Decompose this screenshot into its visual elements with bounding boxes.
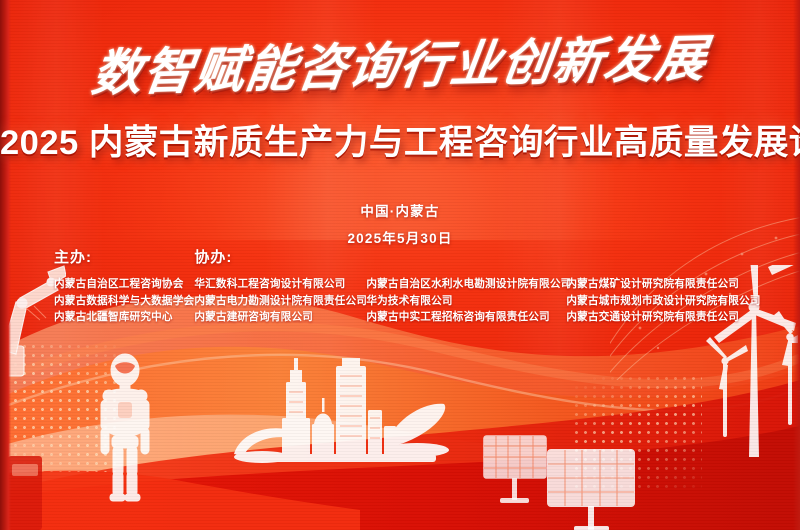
sponsor-item: 内蒙古电力勘测设计院有限责任公司 [194, 293, 366, 310]
event-location: 中国·内蒙古 [0, 200, 800, 220]
conference-backdrop-photo: 数智赋能咨询行业创新发展 2025 内蒙古新质生产力与工程咨询行业高质量发展论坛… [0, 0, 800, 530]
sponsor-column-cosponsor-2: 协办: 内蒙古自治区水利水电勘测设计院有限公司 华为技术有限公司 内蒙古中实工程… [366, 246, 566, 326]
sponsor-item: 内蒙古北疆智库研究中心 [54, 309, 194, 326]
sponsor-item: 内蒙古自治区工程咨询协会 [54, 276, 194, 293]
main-title: 2025 内蒙古新质生产力与工程咨询行业高质量发展论坛 [0, 114, 800, 164]
backdrop-text-content: 数智赋能咨询行业创新发展 2025 内蒙古新质生产力与工程咨询行业高质量发展论坛… [0, 0, 800, 530]
sponsor-column-cosponsor-1: 协办: 华汇数科工程咨询设计有限公司 内蒙古电力勘测设计院有限责任公司 内蒙古建… [194, 246, 366, 326]
sponsor-item: 华为技术有限公司 [366, 293, 566, 310]
sponsor-column-organizer: 主办: 内蒙古自治区工程咨询协会 内蒙古数据科学与大数据学会 内蒙古北疆智库研究… [54, 246, 194, 326]
event-date: 2025年5月30日 [0, 227, 800, 247]
sponsor-item: 内蒙古中实工程招标咨询有限责任公司 [366, 309, 566, 326]
sponsor-item: 华汇数科工程咨询设计有限公司 [194, 276, 366, 293]
sponsor-item: 内蒙古煤矿设计研究院有限责任公司 [566, 276, 760, 293]
calligraphy-title: 数智赋能咨询行业创新发展 [0, 16, 800, 108]
sponsor-heading-cosponsor: 协办: [194, 246, 366, 267]
sponsor-item: 内蒙古城市规划市政设计研究院有限公司 [566, 293, 760, 310]
sponsor-item: 内蒙古交通设计研究院有限责任公司 [566, 309, 760, 326]
sponsor-heading-organizer: 主办: [54, 246, 194, 267]
sponsor-columns: 主办: 内蒙古自治区工程咨询协会 内蒙古数据科学与大数据学会 内蒙古北疆智库研究… [0, 246, 800, 326]
sponsor-item: 内蒙古建研咨询有限公司 [194, 309, 366, 326]
sponsor-item: 内蒙古数据科学与大数据学会 [54, 293, 194, 310]
sponsor-item: 内蒙古自治区水利水电勘测设计院有限公司 [366, 276, 566, 293]
event-subtitle-block: 中国·内蒙古 2025年5月30日 [0, 200, 800, 247]
sponsor-column-cosponsor-3: 协办: 内蒙古煤矿设计研究院有限责任公司 内蒙古城市规划市政设计研究院有限公司 … [566, 246, 760, 326]
